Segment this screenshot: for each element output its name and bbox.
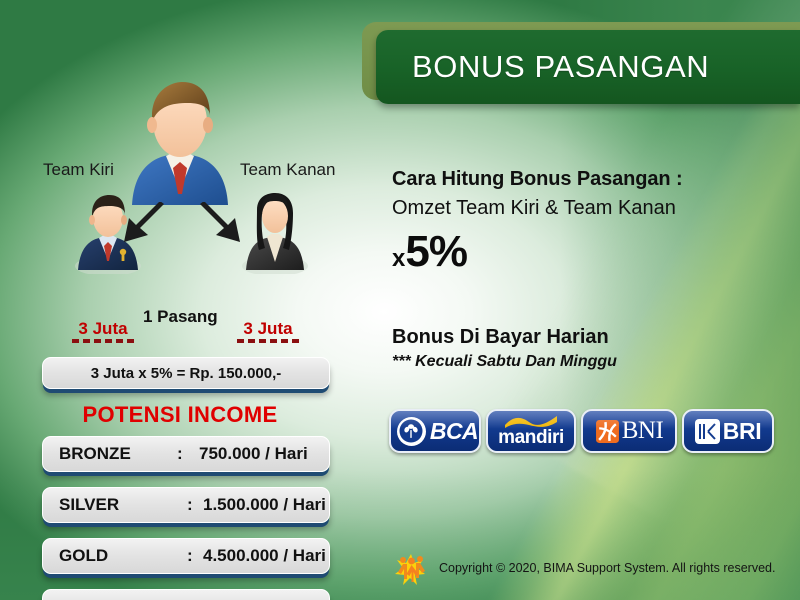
- bank-logo-mandiri: mandiri: [486, 409, 576, 453]
- right-panel: Cara Hitung Bonus Pasangan : Omzet Team …: [392, 168, 800, 371]
- table-row: GOLD : 4.500.000 / Hari: [42, 538, 330, 574]
- arrow-down-left-icon: [118, 202, 166, 244]
- bank-logo-bri-label: BRI: [723, 418, 761, 445]
- slide-canvas: BONUS PASANGAN Team Kiri Team Kanan: [0, 0, 800, 600]
- arrow-down-right-icon: [198, 202, 246, 244]
- calculation-subheading: Omzet Team Kiri & Team Kanan: [392, 197, 800, 220]
- label-team-kiri: Team Kiri: [43, 160, 114, 180]
- copyright-text: Copyright © 2020, BIMA Support System. A…: [439, 561, 775, 575]
- amount-left: 3 Juta: [72, 319, 134, 343]
- bank-logo-bni-label: BNI: [622, 417, 664, 445]
- payout-note: *** Kecuali Sabtu Dan Minggu: [392, 353, 800, 371]
- bank-logo-bca: BCA: [389, 409, 481, 453]
- footer: Copyright © 2020, BIMA Support System. A…: [389, 548, 775, 588]
- rank-name: SILVER: [59, 495, 187, 515]
- bca-flower-emblem-icon: [397, 417, 426, 446]
- calculation-heading: Cara Hitung Bonus Pasangan :: [392, 168, 800, 191]
- bank-logo-mandiri-label: mandiri: [498, 428, 564, 447]
- table-row: BRONZE : 750.000 / Hari: [42, 436, 330, 472]
- bri-mark-emblem-icon: [695, 419, 720, 444]
- rank-separator: :: [177, 444, 199, 464]
- bni-square-emblem-icon: [595, 419, 620, 444]
- bank-logos: BCA mandiri BNI: [389, 409, 774, 453]
- bank-logo-bri: BRI: [682, 409, 774, 453]
- title-banner-body: BONUS PASANGAN: [376, 30, 800, 104]
- person-avatar-icon: [122, 70, 238, 205]
- multiplier-line: x5%: [392, 230, 800, 274]
- star-person-logo-icon: [389, 548, 433, 588]
- rank-separator: :: [187, 495, 203, 515]
- table-row: SILVER : 1.500.000 / Hari: [42, 487, 330, 523]
- multiplier-prefix: x: [392, 245, 405, 272]
- title-banner: BONUS PASANGAN: [362, 22, 800, 104]
- multiplier-value: 5%: [405, 227, 467, 276]
- bank-logo-bni: BNI: [581, 409, 677, 453]
- rank-value: 750.000 / Hari: [199, 444, 308, 464]
- woman-avatar-icon: [240, 190, 310, 274]
- amount-left-text: 3 Juta: [78, 319, 127, 338]
- payout-title: Bonus Di Bayar Harian: [392, 326, 800, 349]
- amount-right-underline: [237, 339, 299, 343]
- rank-separator: :: [187, 546, 203, 566]
- left-panel: Team Kiri Team Kanan: [0, 60, 360, 560]
- label-one-pair: 1 Pasang: [143, 307, 218, 327]
- rank-value: 1.500.000 / Hari: [203, 495, 326, 515]
- calculation-box: 3 Juta x 5% = Rp. 150.000,-: [42, 357, 330, 389]
- calculation-text: 3 Juta x 5% = Rp. 150.000,-: [91, 365, 282, 382]
- table-row: PLATINUM : 7.500.000 / Hari: [42, 589, 330, 600]
- amount-right-text: 3 Juta: [243, 319, 292, 338]
- label-team-kanan: Team Kanan: [240, 160, 335, 180]
- bank-logo-bca-label: BCA: [430, 418, 478, 445]
- amount-right: 3 Juta: [237, 319, 299, 343]
- rank-name: GOLD: [59, 546, 187, 566]
- potensi-income-heading: POTENSI INCOME: [0, 402, 360, 428]
- rank-name: BRONZE: [59, 444, 177, 464]
- page-title: BONUS PASANGAN: [376, 49, 709, 85]
- amount-left-underline: [72, 339, 134, 343]
- rank-value: 4.500.000 / Hari: [203, 546, 326, 566]
